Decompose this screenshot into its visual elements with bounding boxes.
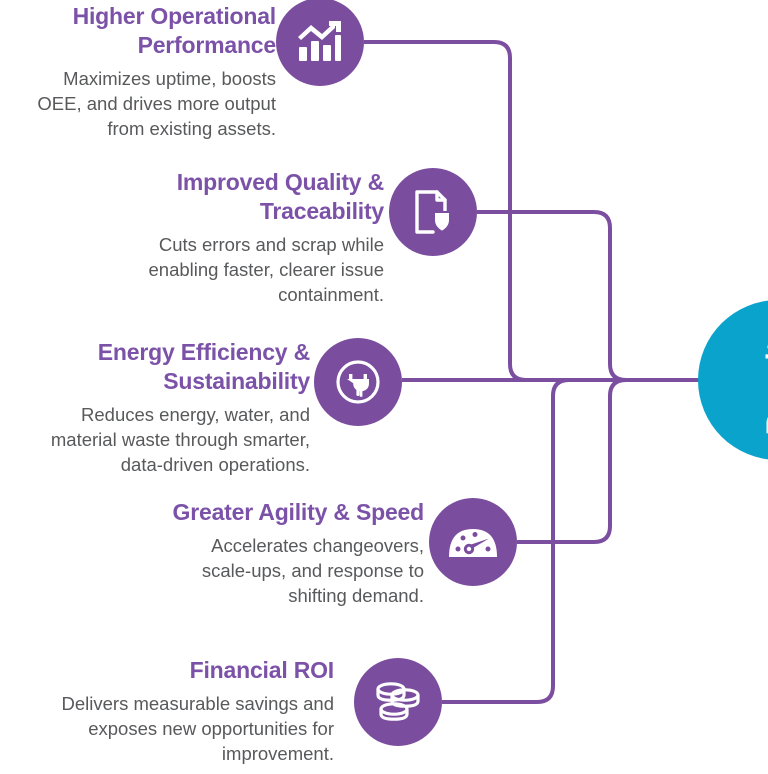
results-hub[interactable]: Results xyxy=(698,300,768,460)
benefit-icon-circle-4[interactable] xyxy=(429,498,517,586)
benefit-text-1: Higher Operational Performance Maximizes… xyxy=(20,2,276,141)
benefit-icon-circle-1[interactable] xyxy=(276,0,364,86)
benefit-description-2: Cuts errors and scrap while enabling fas… xyxy=(120,232,384,307)
benefit-title-3: Energy Efficiency & Sustainability xyxy=(20,338,310,396)
document-shield-icon xyxy=(413,189,453,235)
benefit-title-2: Improved Quality & Traceability xyxy=(120,168,384,226)
benefit-icon-circle-2[interactable] xyxy=(389,168,477,256)
benefit-description-3: Reduces energy, water, and material wast… xyxy=(20,402,310,477)
benefit-description-5: Delivers measurable savings and exposes … xyxy=(34,691,334,766)
benefit-description-4: Accelerates changeovers, scale-ups, and … xyxy=(170,533,424,608)
benefit-title-1: Higher Operational Performance xyxy=(20,2,276,60)
connector-path-4 xyxy=(517,380,700,542)
speedometer-icon xyxy=(449,525,497,559)
bar-chart-growth-icon xyxy=(297,21,343,63)
connector-path-2 xyxy=(477,212,700,380)
results-label: Results xyxy=(761,325,768,435)
benefit-text-4: Greater Agility & Speed Accelerates chan… xyxy=(170,498,424,608)
benefit-description-1: Maximizes uptime, boosts OEE, and drives… xyxy=(20,66,276,141)
benefits-infographic: Higher Operational Performance Maximizes… xyxy=(0,0,768,774)
stacked-coins-icon xyxy=(373,680,423,724)
benefit-icon-circle-5[interactable] xyxy=(354,658,442,746)
benefit-title-5: Financial ROI xyxy=(34,656,334,685)
benefit-text-5: Financial ROI Delivers measurable saving… xyxy=(34,656,334,766)
power-plug-icon xyxy=(334,358,382,406)
benefit-icon-circle-3[interactable] xyxy=(314,338,402,426)
benefit-text-2: Improved Quality & Traceability Cuts err… xyxy=(120,168,384,307)
benefit-title-4: Greater Agility & Speed xyxy=(170,498,424,527)
benefit-text-3: Energy Efficiency & Sustainability Reduc… xyxy=(20,338,310,477)
